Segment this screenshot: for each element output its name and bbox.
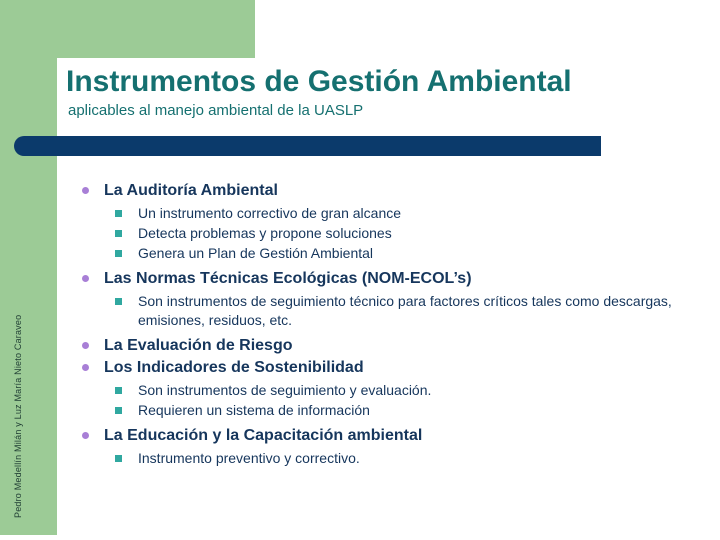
bullet-item-label: La Educación y la Capacitación ambiental <box>104 427 422 444</box>
bullet-item-level2: Detecta problemas y propone soluciones <box>78 224 703 243</box>
bullet-item-label: Instrumento preventivo y correctivo. <box>138 450 360 466</box>
slide-subtitle: aplicables al manejo ambiental de la UAS… <box>68 103 708 120</box>
bullet-square-icon <box>115 455 122 462</box>
bullet-item-label: Un instrumento correctivo de gran alcanc… <box>138 205 401 221</box>
bullet-item-label: Detecta problemas y propone soluciones <box>138 225 392 241</box>
author-credit-vertical: Pedro Medellín Milán y Luz María Nieto C… <box>13 288 23 518</box>
bullet-item-level1: Las Normas Técnicas Ecológicas (NOM-ECOL… <box>78 268 703 289</box>
bullet-item-level2: Son instrumentos de seguimiento y evalua… <box>78 381 703 400</box>
bullet-item-label: Los Indicadores de Sostenibilidad <box>104 359 364 376</box>
bullet-item-level1: La Evaluación de Riesgo <box>78 335 703 356</box>
bullet-item-level1: La Educación y la Capacitación ambiental <box>78 425 703 446</box>
bullet-item-level1: Los Indicadores de Sostenibilidad <box>78 357 703 378</box>
bullet-square-icon <box>115 407 122 414</box>
bullet-item-level2: Requieren un sistema de información <box>78 401 703 420</box>
bullet-item-level2: Instrumento preventivo y correctivo. <box>78 449 703 468</box>
bullet-item-label: La Auditoría Ambiental <box>104 182 278 199</box>
bullet-square-icon <box>115 298 122 305</box>
green-sidebar-decoration <box>0 0 57 535</box>
bullet-dot-icon <box>82 275 89 282</box>
bullet-item-level2: Un instrumento correctivo de gran alcanc… <box>78 204 703 223</box>
bullet-dot-icon <box>82 187 89 194</box>
bullet-square-icon <box>115 230 122 237</box>
slide-body-content: La Auditoría AmbientalUn instrumento cor… <box>78 180 703 469</box>
bullet-item-label: Genera un Plan de Gestión Ambiental <box>138 245 373 261</box>
bullet-item-label: Requieren un sistema de información <box>138 402 370 418</box>
green-top-block-decoration <box>57 0 255 58</box>
bullet-dot-icon <box>82 364 89 371</box>
bullet-item-label: La Evaluación de Riesgo <box>104 337 293 354</box>
bullet-item-label: Son instrumentos de seguimiento y evalua… <box>138 382 431 398</box>
bullet-square-icon <box>115 210 122 217</box>
bullet-item-label: Son instrumentos de seguimiento técnico … <box>138 293 672 328</box>
bullet-item-level2: Genera un Plan de Gestión Ambiental <box>78 244 703 263</box>
bullet-square-icon <box>115 387 122 394</box>
navy-divider-bar <box>14 136 601 156</box>
bullet-item-level1: La Auditoría Ambiental <box>78 180 703 201</box>
bullet-item-level2: Son instrumentos de seguimiento técnico … <box>78 292 703 330</box>
presentation-slide: Pedro Medellín Milán y Luz María Nieto C… <box>0 0 720 540</box>
bullet-dot-icon <box>82 432 89 439</box>
bullet-dot-icon <box>82 342 89 349</box>
bullet-item-label: Las Normas Técnicas Ecológicas (NOM-ECOL… <box>104 270 472 287</box>
bullet-square-icon <box>115 250 122 257</box>
slide-title: Instrumentos de Gestión Ambiental <box>66 66 716 98</box>
